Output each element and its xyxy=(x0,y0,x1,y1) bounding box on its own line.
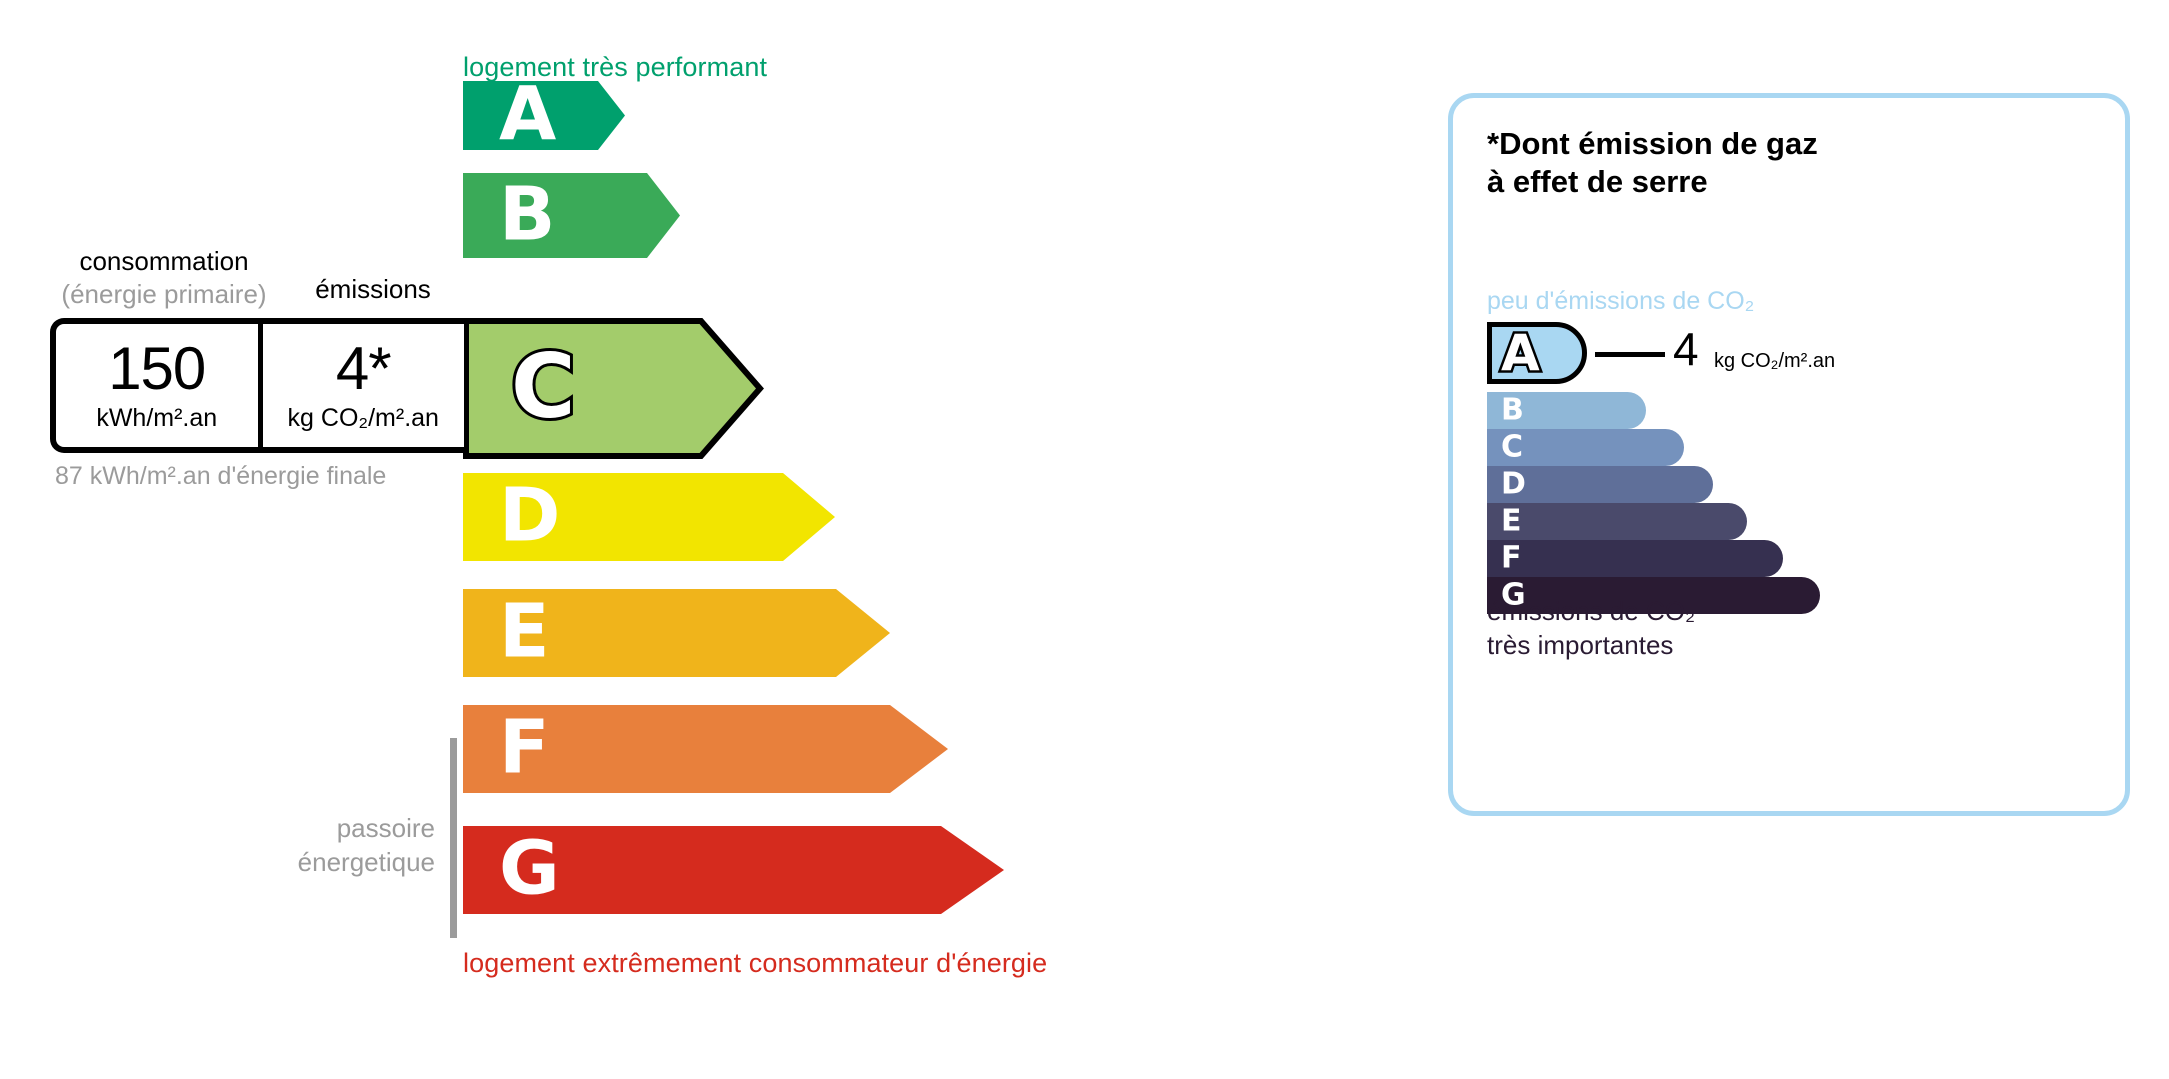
dpe-class-row-g: G xyxy=(463,826,1004,914)
co2-class-letter-a: A xyxy=(1501,328,1540,378)
co2-class-bars: A4kg CO₂/m².anBCDEFG xyxy=(1487,322,2107,614)
co2-bar-f xyxy=(1487,540,1783,577)
emissions-value: 4* xyxy=(336,339,391,399)
value-box-headers: consommation (énergie primaire) émission… xyxy=(50,245,470,315)
co2-class-letter-b: B xyxy=(1501,395,1524,425)
dpe-class-letter-f: F xyxy=(499,711,550,785)
dpe-class-letter-b: B xyxy=(499,177,555,251)
co2-value: 4 xyxy=(1673,326,1699,372)
consumption-value-cell: 150 kWh/m².an xyxy=(56,324,263,447)
dpe-class-ladder: ABCDEFG xyxy=(0,0,1400,1079)
co2-class-row-b: B xyxy=(1487,392,2107,429)
co2-ges-panel: *Dont émission de gaz à effet de serre p… xyxy=(1448,93,2130,816)
co2-leader-line xyxy=(1595,352,1665,357)
co2-class-row-c: C xyxy=(1487,429,2107,466)
consumption-unit: kWh/m².an xyxy=(96,404,217,433)
dpe-value-box: 150 kWh/m².an 4* kg CO₂/m².an xyxy=(50,318,464,453)
passoire-bracket xyxy=(450,738,457,938)
co2-class-letter-d: D xyxy=(1501,469,1526,499)
co2-bar-e xyxy=(1487,503,1747,540)
dpe-class-letter-g: G xyxy=(499,832,560,906)
dpe-class-letter-e: E xyxy=(499,595,550,669)
dpe-bottom-caption: logement extrêmement consommateur d'éner… xyxy=(463,948,1047,979)
dpe-class-row-f: F xyxy=(463,705,948,793)
co2-high-emissions-label: émissions de CO₂ très importantes xyxy=(1487,595,1695,663)
co2-class-letter-f: F xyxy=(1501,543,1522,573)
dpe-arrow-b xyxy=(463,173,680,258)
consumption-header: consommation (énergie primaire) xyxy=(50,245,278,310)
co2-low-emissions-label: peu d'émissions de CO₂ xyxy=(1487,287,1754,316)
co2-class-letter-e: E xyxy=(1501,506,1522,536)
emissions-header: émissions xyxy=(278,274,468,305)
co2-class-row-e: E xyxy=(1487,503,2107,540)
co2-class-row-f: F xyxy=(1487,540,2107,577)
dpe-energy-panel: logement très performant ABCDEFG passoir… xyxy=(0,0,1400,1079)
emissions-unit: kg CO₂/m².an xyxy=(288,404,439,433)
dpe-class-row-d: D xyxy=(463,473,835,561)
dpe-class-letter-a: A xyxy=(499,77,556,151)
dpe-arrow-c xyxy=(463,318,763,459)
co2-value-unit: kg CO₂/m².an xyxy=(1714,350,1835,373)
co2-class-letter-c: C xyxy=(1501,432,1523,462)
passoire-label: passoire énergetique xyxy=(200,812,435,880)
co2-class-row-d: D xyxy=(1487,466,2107,503)
co2-panel-title: *Dont émission de gaz à effet de serre xyxy=(1487,125,1818,201)
dpe-class-row-e: E xyxy=(463,589,890,677)
final-energy-note: 87 kWh/m².an d'énergie finale xyxy=(55,460,386,494)
consumption-header-main: consommation xyxy=(79,246,248,276)
consumption-value: 150 xyxy=(108,339,205,399)
dpe-class-letter-c: C xyxy=(511,343,576,431)
dpe-class-row-a: A xyxy=(463,81,625,150)
dpe-class-row-b: B xyxy=(463,173,680,258)
consumption-header-sub: (énergie primaire) xyxy=(61,279,266,309)
dpe-class-letter-d: D xyxy=(499,479,560,553)
emissions-value-cell: 4* kg CO₂/m².an xyxy=(263,324,465,447)
co2-class-row-a: A4kg CO₂/m².an xyxy=(1487,322,2107,388)
dpe-class-row-c: C xyxy=(463,318,763,459)
